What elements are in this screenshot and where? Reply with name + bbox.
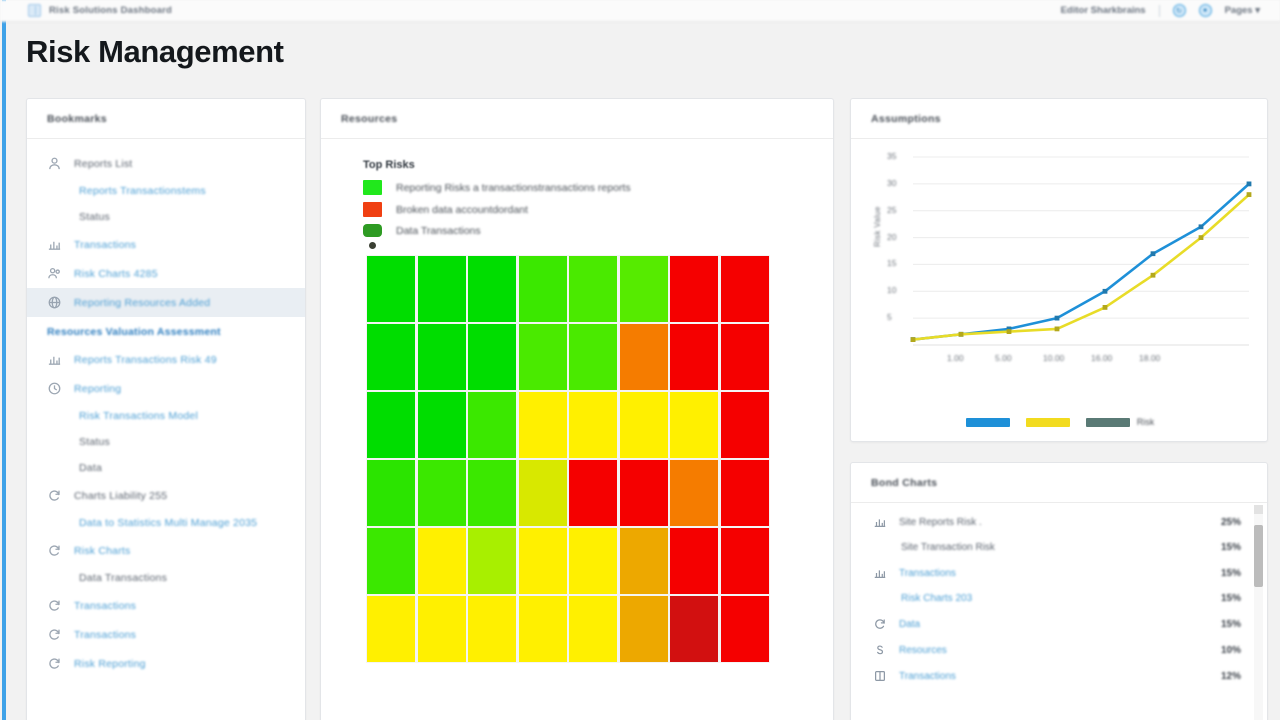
heatmap-cell-r2-c5[interactable] bbox=[620, 392, 668, 458]
legend-title: Top Risks bbox=[363, 159, 833, 171]
heatmap-cell-r2-c4[interactable] bbox=[569, 392, 617, 458]
list-item-label: Data bbox=[899, 619, 920, 630]
heatmap-cell-r1-c3[interactable] bbox=[519, 324, 567, 390]
chart-icon bbox=[873, 515, 887, 529]
sidebar-item-7[interactable]: Reports Transactions Risk 49 bbox=[27, 345, 305, 374]
heatmap-cell-r3-c2[interactable] bbox=[468, 460, 516, 526]
pages-menu[interactable]: Pages ▾ bbox=[1225, 5, 1260, 16]
sidebar-item-label: Status bbox=[79, 436, 110, 448]
heatmap-cell-r3-c5[interactable] bbox=[620, 460, 668, 526]
y-tick-label: 15 bbox=[887, 258, 896, 268]
bond-charts-list[interactable]: Site Reports Risk .25%Site Transaction R… bbox=[851, 503, 1267, 720]
heatmap-cell-r3-c0[interactable] bbox=[367, 460, 415, 526]
heatmap-cell-r2-c0[interactable] bbox=[367, 392, 415, 458]
sidebar-item-15[interactable]: Data Transactions bbox=[27, 565, 305, 591]
heatmap-cell-r5-c6[interactable] bbox=[670, 596, 718, 662]
heatmap-cell-r0-c5[interactable] bbox=[620, 256, 668, 322]
list-item[interactable]: Transactions15% bbox=[851, 560, 1267, 586]
sidebar-item-14[interactable]: Risk Charts bbox=[27, 536, 305, 565]
breadcrumb[interactable]: Risk Solutions Dashboard bbox=[49, 5, 172, 16]
sidebar-item-label: Reporting Resources Added bbox=[74, 297, 210, 309]
assumptions-chart: Risk Value 51015202530351.005.0010.0016.… bbox=[851, 139, 1268, 441]
heatmap-cell-r1-c4[interactable] bbox=[569, 324, 617, 390]
sidebar-item-label: Transactions bbox=[74, 600, 136, 612]
refresh-icon bbox=[47, 488, 62, 503]
bond-charts-panel: Bond Charts Site Reports Risk .25%Site T… bbox=[850, 462, 1268, 720]
users-icon bbox=[47, 266, 62, 281]
list-item-value: 12% bbox=[1221, 671, 1241, 682]
list-item[interactable]: Data15% bbox=[851, 611, 1267, 637]
heatmap-cell-r5-c7[interactable] bbox=[721, 596, 769, 662]
bond-charts-header: Bond Charts bbox=[851, 463, 1267, 503]
divider bbox=[1159, 5, 1160, 17]
sidebar-item-17[interactable]: Transactions bbox=[27, 620, 305, 649]
list-item-value: 15% bbox=[1221, 568, 1241, 579]
top-bar: Risk Solutions Dashboard Editor Sharkbra… bbox=[0, 0, 1280, 22]
sidebar-item-1[interactable]: Reports Transactionstems bbox=[27, 178, 305, 204]
clock-icon bbox=[47, 381, 62, 396]
sidebar-item-label: Resources Valuation Assessment bbox=[47, 326, 221, 338]
page-title: Risk Management bbox=[26, 34, 284, 70]
chart-legend-item-0[interactable] bbox=[966, 418, 1010, 427]
line-chart-svg bbox=[851, 139, 1268, 441]
heatmap-cell-r3-c7[interactable] bbox=[721, 460, 769, 526]
sidebar-item-label: Transactions bbox=[74, 239, 136, 251]
sidebar-item-6[interactable]: Resources Valuation Assessment bbox=[27, 317, 305, 345]
x-tick-label: 10.00 bbox=[1043, 353, 1064, 363]
book-icon bbox=[873, 669, 887, 683]
sidebar-item-5[interactable]: Reporting Resources Added bbox=[27, 288, 305, 317]
heatmap-cell-r3-c3[interactable] bbox=[519, 460, 567, 526]
sidebar-item-0[interactable]: Reports List bbox=[27, 149, 305, 178]
sidebar-item-2[interactable]: Status bbox=[27, 204, 305, 230]
heatmap-cell-r4-c6[interactable] bbox=[670, 528, 718, 594]
x-tick-label: 1.00 bbox=[947, 353, 964, 363]
chart-legend-item-1[interactable] bbox=[1026, 418, 1070, 427]
risk-heatmap[interactable] bbox=[366, 255, 770, 663]
legend-item-0[interactable]: Reporting Risks a transactionstransactio… bbox=[363, 180, 833, 195]
heatmap-cell-r1-c5[interactable] bbox=[620, 324, 668, 390]
book-icon bbox=[28, 4, 41, 17]
sidebar-item-label: Charts Liability 255 bbox=[74, 490, 167, 502]
x-tick-label: 5.00 bbox=[995, 353, 1012, 363]
heatmap-cell-r1-c7[interactable] bbox=[721, 324, 769, 390]
heatmap-cell-r2-c7[interactable] bbox=[721, 392, 769, 458]
heatmap-cell-r0-c0[interactable] bbox=[367, 256, 415, 322]
bookmarks-list[interactable]: Reports ListReports TransactionstemsStat… bbox=[27, 139, 305, 678]
heatmap-cell-r5-c4[interactable] bbox=[569, 596, 617, 662]
y-axis-label: Risk Value bbox=[873, 206, 882, 247]
sidebar-item-label: Risk Reporting bbox=[74, 658, 146, 670]
sidebar-item-label: Transactions bbox=[74, 629, 136, 641]
sidebar-item-3[interactable]: Transactions bbox=[27, 230, 305, 259]
sidebar-item-label: Reports Transactionstems bbox=[79, 185, 206, 197]
list-rows: Site Reports Risk .25%Site Transaction R… bbox=[851, 509, 1267, 689]
list-item-label: Site Transaction Risk bbox=[901, 542, 995, 553]
x-tick-label: 18.00 bbox=[1139, 353, 1160, 363]
resources-title: Resources bbox=[341, 113, 397, 125]
resources-panel: Resources Top Risks Reporting Risks a tr… bbox=[320, 98, 834, 720]
dollar-icon bbox=[873, 643, 887, 657]
chart-legend-item-2[interactable]: Risk bbox=[1086, 417, 1155, 427]
sidebar-item-label: Reports List bbox=[74, 158, 132, 170]
list-item-value: 15% bbox=[1221, 593, 1241, 604]
notification-icon[interactable]: ● bbox=[1199, 4, 1212, 17]
list-item[interactable]: Site Reports Risk .25% bbox=[851, 509, 1267, 535]
heatmap-cell-r4-c5[interactable] bbox=[620, 528, 668, 594]
refresh-icon bbox=[47, 598, 62, 613]
heatmap-cell-r0-c2[interactable] bbox=[468, 256, 516, 322]
scrollbar-thumb[interactable] bbox=[1254, 525, 1263, 587]
sidebar-item-9[interactable]: Risk Transactions Model bbox=[27, 403, 305, 429]
y-tick-label: 10 bbox=[887, 285, 896, 295]
sidebar-item-4[interactable]: Risk Charts 4285 bbox=[27, 259, 305, 288]
bookmarks-title: Bookmarks bbox=[47, 113, 107, 125]
heatmap-cell-r4-c0[interactable] bbox=[367, 528, 415, 594]
heatmap-cell-r3-c1[interactable] bbox=[418, 460, 466, 526]
app-root: Risk Solutions Dashboard Editor Sharkbra… bbox=[0, 0, 1280, 720]
assumptions-panel: Assumptions Risk Value 51015202530351.00… bbox=[850, 98, 1268, 442]
legend-rows: Reporting Risks a transactionstransactio… bbox=[363, 180, 833, 249]
sidebar-item-12[interactable]: Charts Liability 255 bbox=[27, 481, 305, 510]
chart-icon bbox=[47, 352, 62, 367]
heatmap-cell-r1-c1[interactable] bbox=[418, 324, 466, 390]
legend-extra-dot bbox=[369, 242, 376, 249]
scrollbar-up-arrow[interactable] bbox=[1254, 505, 1263, 514]
heatmap-cell-r5-c0[interactable] bbox=[367, 596, 415, 662]
assumptions-title: Assumptions bbox=[871, 113, 941, 125]
bookmarks-header: Bookmarks bbox=[27, 99, 305, 139]
list-item-value: 15% bbox=[1221, 542, 1241, 553]
sidebar-item-label: Risk Charts 4285 bbox=[74, 268, 158, 280]
chart-legend-swatch bbox=[1026, 418, 1070, 427]
list-item[interactable]: Risk Charts 20315% bbox=[851, 586, 1267, 611]
legend-label: Data Transactions bbox=[396, 225, 481, 237]
heatmap-cell-r2-c3[interactable] bbox=[519, 392, 567, 458]
heatmap-cell-r1-c2[interactable] bbox=[468, 324, 516, 390]
chart-legend[interactable]: Risk bbox=[851, 417, 1268, 427]
heatmap-cell-r0-c1[interactable] bbox=[418, 256, 466, 322]
assumptions-header: Assumptions bbox=[851, 99, 1267, 139]
sidebar-item-label: Data to Statistics Multi Manage 2035 bbox=[79, 517, 257, 529]
sidebar-item-label: Reports Transactions Risk 49 bbox=[74, 354, 217, 366]
legend-item-2[interactable]: Data Transactions bbox=[363, 224, 833, 237]
heatmap-cell-r5-c5[interactable] bbox=[620, 596, 668, 662]
heatmap-cell-r4-c2[interactable] bbox=[468, 528, 516, 594]
y-tick-label: 5 bbox=[887, 312, 892, 322]
y-tick-label: 30 bbox=[887, 178, 896, 188]
sidebar-item-8[interactable]: Reporting bbox=[27, 374, 305, 403]
heatmap-cell-r1-c0[interactable] bbox=[367, 324, 415, 390]
sidebar-item-label: Risk Charts bbox=[74, 545, 130, 557]
heatmap-legend: Top Risks Reporting Risks a transactions… bbox=[321, 139, 833, 249]
sidebar-item-label: Data Transactions bbox=[79, 572, 167, 584]
user-label[interactable]: Editor Sharkbrains bbox=[1061, 5, 1146, 16]
chart-legend-swatch bbox=[966, 418, 1010, 427]
list-item-value: 15% bbox=[1221, 619, 1241, 630]
refresh-icon bbox=[47, 627, 62, 642]
chart-icon bbox=[873, 566, 887, 580]
heatmap-cell-r0-c7[interactable] bbox=[721, 256, 769, 322]
list-item[interactable]: Site Transaction Risk15% bbox=[851, 535, 1267, 560]
list-item-label: Transactions bbox=[899, 671, 956, 682]
legend-swatch bbox=[363, 202, 382, 217]
legend-label: Reporting Risks a transactionstransactio… bbox=[396, 182, 631, 194]
sidebar-item-10[interactable]: Status bbox=[27, 429, 305, 455]
heatmap-cell-r0-c3[interactable] bbox=[519, 256, 567, 322]
heatmap-cell-r4-c3[interactable] bbox=[519, 528, 567, 594]
list-item-label: Site Reports Risk . bbox=[899, 517, 982, 528]
refresh-icon[interactable]: ↻ bbox=[1173, 4, 1186, 17]
sidebar-item-label: Risk Transactions Model bbox=[79, 410, 198, 422]
heatmap-cell-r4-c7[interactable] bbox=[721, 528, 769, 594]
heatmap-cell-r4-c1[interactable] bbox=[418, 528, 466, 594]
legend-swatch bbox=[363, 180, 382, 195]
refresh-icon bbox=[873, 617, 887, 631]
heatmap-cell-r5-c3[interactable] bbox=[519, 596, 567, 662]
list-item[interactable]: Transactions12% bbox=[851, 663, 1267, 689]
refresh-icon bbox=[47, 543, 62, 558]
heatmap-cell-r3-c4[interactable] bbox=[569, 460, 617, 526]
y-tick-label: 25 bbox=[887, 205, 896, 215]
left-accent-strip bbox=[2, 0, 6, 720]
chart-legend-label: Risk bbox=[1137, 417, 1155, 427]
heatmap-cell-r5-c1[interactable] bbox=[418, 596, 466, 662]
sidebar-item-13[interactable]: Data to Statistics Multi Manage 2035 bbox=[27, 510, 305, 536]
list-item-label: Resources bbox=[899, 645, 947, 656]
list-item-label: Risk Charts 203 bbox=[901, 593, 972, 604]
bookmarks-panel: Bookmarks Reports ListReports Transactio… bbox=[26, 98, 306, 720]
list-item[interactable]: Resources10% bbox=[851, 637, 1267, 663]
sidebar-item-18[interactable]: Risk Reporting bbox=[27, 649, 305, 678]
heatmap-cell-r2-c2[interactable] bbox=[468, 392, 516, 458]
heatmap-cell-r2-c1[interactable] bbox=[418, 392, 466, 458]
chart-icon bbox=[47, 237, 62, 252]
heatmap-cell-r1-c6[interactable] bbox=[670, 324, 718, 390]
heatmap-cell-r5-c2[interactable] bbox=[468, 596, 516, 662]
sidebar-item-label: Status bbox=[79, 211, 110, 223]
sidebar-item-label: Reporting bbox=[74, 383, 121, 395]
heatmap-cell-r0-c4[interactable] bbox=[569, 256, 617, 322]
sidebar-item-16[interactable]: Transactions bbox=[27, 591, 305, 620]
y-tick-label: 35 bbox=[887, 151, 896, 161]
heatmap-cell-r2-c6[interactable] bbox=[670, 392, 718, 458]
list-item-value: 10% bbox=[1221, 645, 1241, 656]
heatmap-cell-r0-c6[interactable] bbox=[670, 256, 718, 322]
resources-header: Resources bbox=[321, 99, 833, 139]
person-icon bbox=[47, 156, 62, 171]
x-tick-label: 16.00 bbox=[1091, 353, 1112, 363]
sidebar-item-11[interactable]: Data bbox=[27, 455, 305, 481]
chart-legend-swatch bbox=[1086, 418, 1130, 427]
legend-item-1[interactable]: Broken data accountdordant bbox=[363, 202, 833, 217]
topbar-left-group: Risk Solutions Dashboard bbox=[28, 4, 172, 17]
heatmap-cell-r3-c6[interactable] bbox=[670, 460, 718, 526]
list-item-value: 25% bbox=[1221, 517, 1241, 528]
sidebar-item-label: Data bbox=[79, 462, 102, 474]
bond-charts-title: Bond Charts bbox=[871, 477, 937, 489]
globe-icon bbox=[47, 295, 62, 310]
list-item-label: Transactions bbox=[899, 568, 956, 579]
y-tick-label: 20 bbox=[887, 232, 896, 242]
topbar-right-group: Editor Sharkbrains ↻ ● Pages ▾ bbox=[1061, 4, 1260, 17]
refresh-icon bbox=[47, 656, 62, 671]
legend-label: Broken data accountdordant bbox=[396, 204, 528, 216]
legend-swatch bbox=[363, 224, 382, 237]
heatmap-cell-r4-c4[interactable] bbox=[569, 528, 617, 594]
